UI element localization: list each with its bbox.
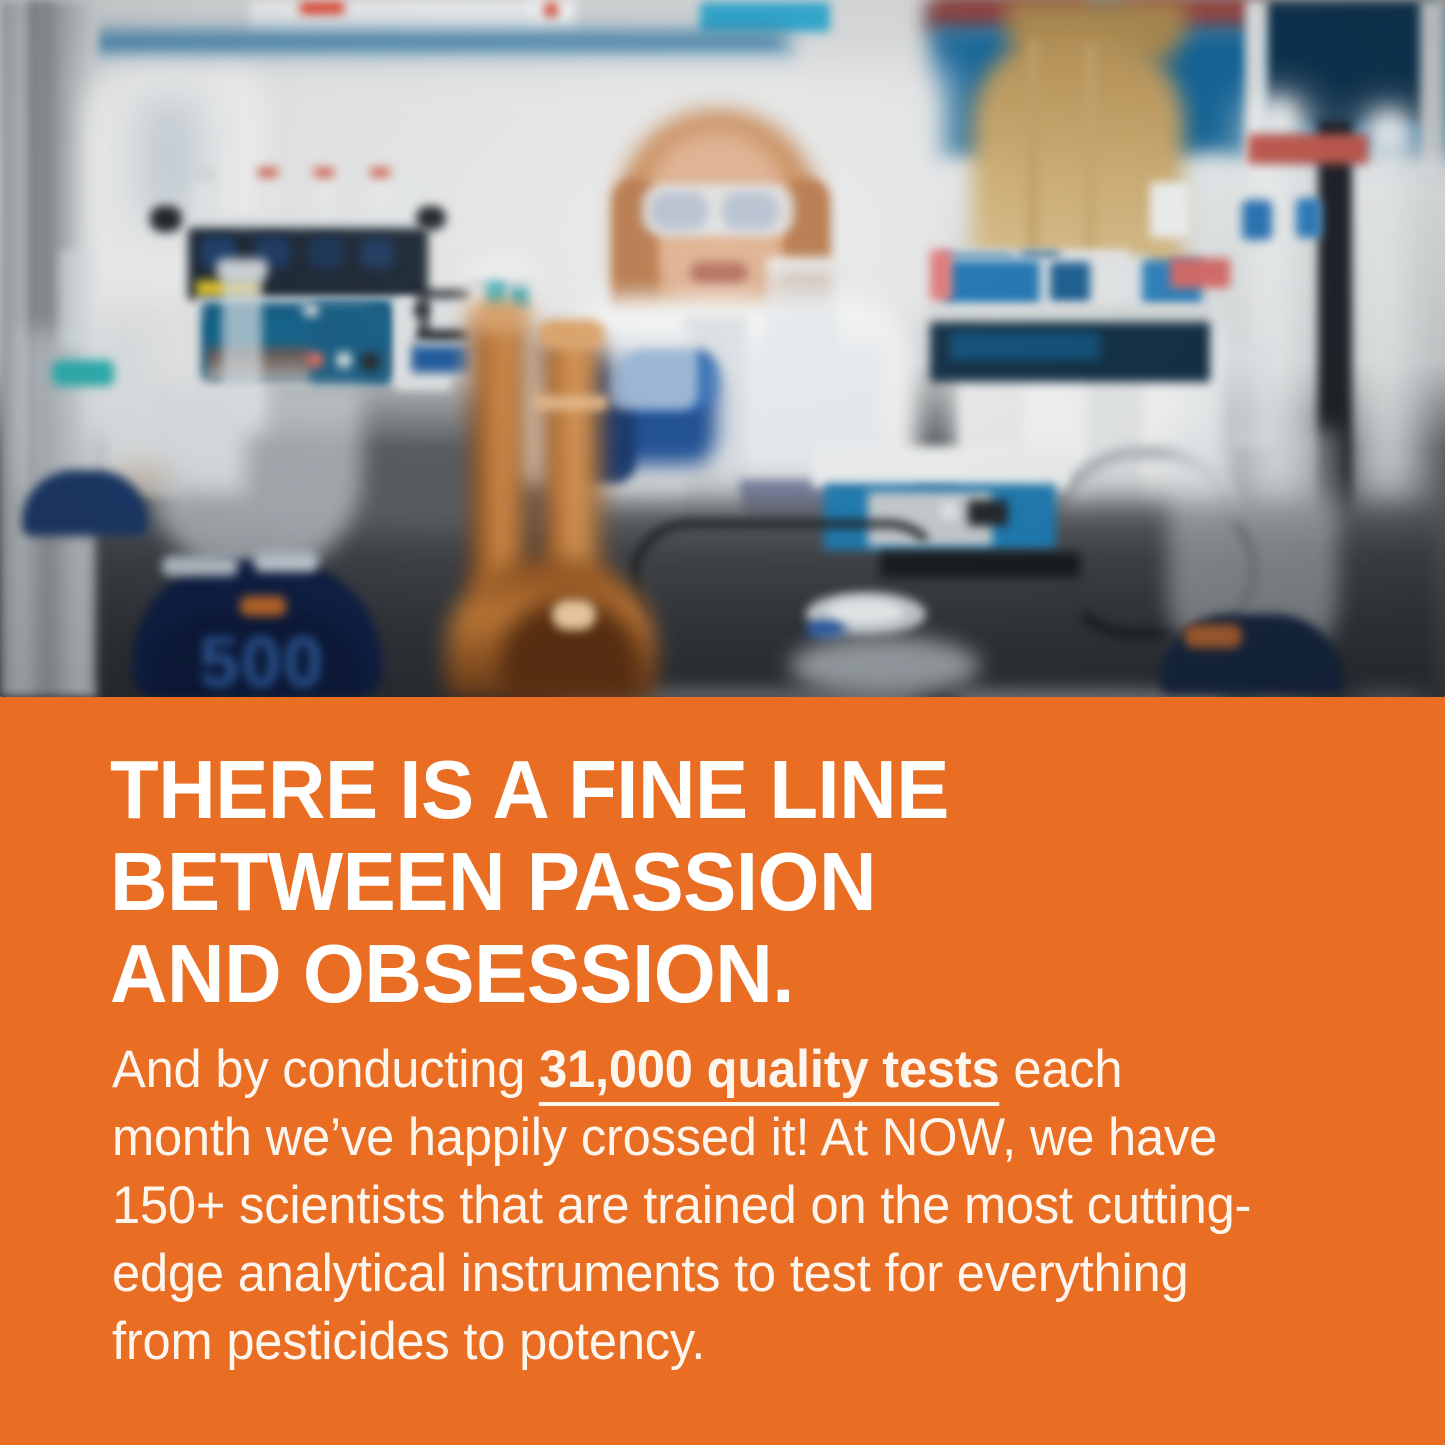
lab-photo: 500 — [0, 0, 1445, 697]
body-text-part1: And by conducting — [112, 1040, 539, 1099]
quality-tests-emphasis: 31,000 quality tests — [539, 1040, 999, 1106]
body-paragraph: And by conducting 31,000 quality tests e… — [112, 1036, 1272, 1376]
lab-scene: 500 — [0, 0, 1445, 697]
page-headline: THERE IS A FINE LINE BETWEEN PASSION AND… — [110, 744, 1291, 1020]
promo-card: 500 THERE — [0, 0, 1445, 1445]
